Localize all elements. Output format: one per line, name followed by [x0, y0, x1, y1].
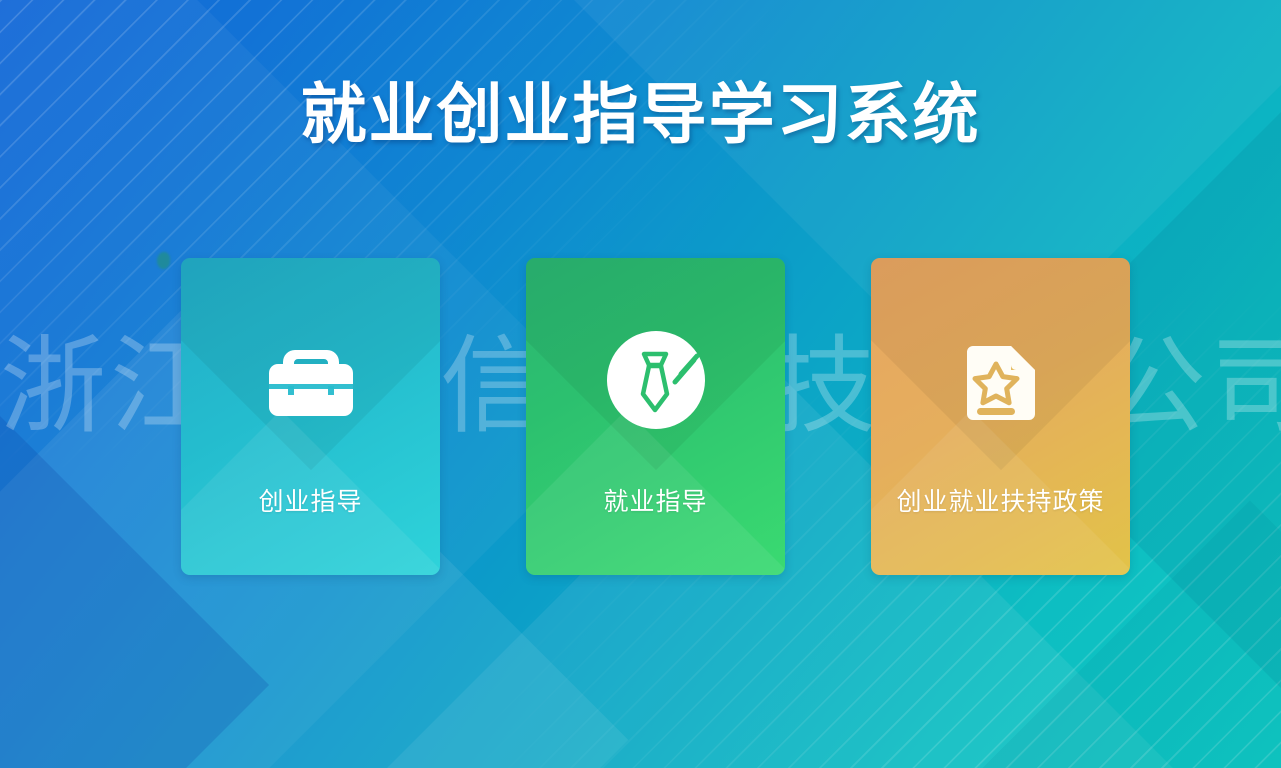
app-screen: 浙江骏马信息科技有限公司 就业创业指导学习系统 创业指导	[0, 0, 1281, 768]
briefcase-icon	[251, 320, 371, 440]
page-title: 就业创业指导学习系统	[0, 78, 1281, 151]
image-artifact	[157, 252, 170, 269]
card-label: 创业指导	[258, 482, 362, 518]
module-card-grid: 创业指导 就业指导	[181, 258, 1130, 575]
necktie-circle-icon	[596, 320, 716, 440]
policy-document-star-icon	[941, 320, 1061, 440]
card-entrepreneurship-guidance[interactable]: 创业指导	[181, 258, 440, 575]
card-label: 创业就业扶持政策	[896, 482, 1104, 518]
card-label: 就业指导	[603, 482, 707, 518]
card-employment-guidance[interactable]: 就业指导	[526, 258, 785, 575]
card-support-policy[interactable]: 创业就业扶持政策	[871, 258, 1130, 575]
